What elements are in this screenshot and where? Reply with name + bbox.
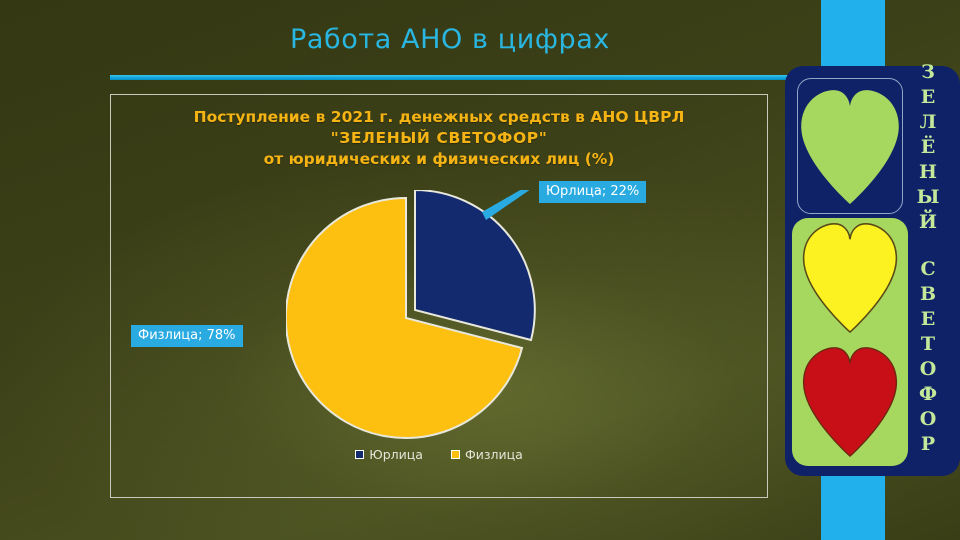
legend-label-fizlica: Физлица [465, 447, 523, 462]
logo-letter: Ф [919, 382, 937, 407]
data-label-fizlica: Физлица; 78% [131, 325, 243, 347]
pie-chart [111, 95, 767, 497]
logo-letter: Е [921, 85, 935, 110]
logo-letter: С [920, 257, 935, 282]
logo-letter: Й [919, 210, 937, 235]
chart-panel: Поступление в 2021 г. денежных средств в… [110, 94, 768, 498]
legend-item-fizlica: Физлица [451, 447, 523, 462]
page-title: Работа АНО в цифрах [110, 24, 790, 55]
logo-letter: Т [921, 332, 935, 357]
title-underline-rule [110, 75, 790, 80]
logo-letter: В [920, 282, 936, 307]
logo-letter: О [920, 407, 937, 432]
pie-chart-svg [286, 190, 616, 450]
logo-letter: Е [921, 307, 935, 332]
chart-legend: Юрлица Физлица [111, 447, 767, 462]
logo-letter: Н [919, 160, 937, 185]
red-heart-icon [800, 342, 900, 458]
yellow-heart-icon [800, 218, 900, 334]
pie-slice-urlica [415, 190, 535, 340]
pie-slice-group-urlica [415, 190, 535, 340]
green-heart-icon [799, 84, 901, 206]
logo-letter: З [921, 60, 935, 85]
slide-canvas: Работа АНО в цифрах Поступление в 2021 г… [0, 0, 960, 540]
legend-item-urlica: Юрлица [355, 447, 423, 462]
legend-swatch-fizlica [451, 450, 460, 459]
data-label-urlica: Юрлица; 22% [539, 181, 646, 203]
logo-letter: Р [921, 432, 935, 457]
logo-letter: О [920, 357, 937, 382]
legend-label-urlica: Юрлица [369, 447, 423, 462]
logo-letter: Ё [921, 135, 935, 160]
logo-letter: Ы [917, 185, 940, 210]
legend-swatch-urlica [355, 450, 364, 459]
logo-vertical-text: З Е Л Ё Н Ы Й С В Е Т О Ф О Р [908, 60, 948, 480]
logo-letter: Л [920, 110, 937, 135]
